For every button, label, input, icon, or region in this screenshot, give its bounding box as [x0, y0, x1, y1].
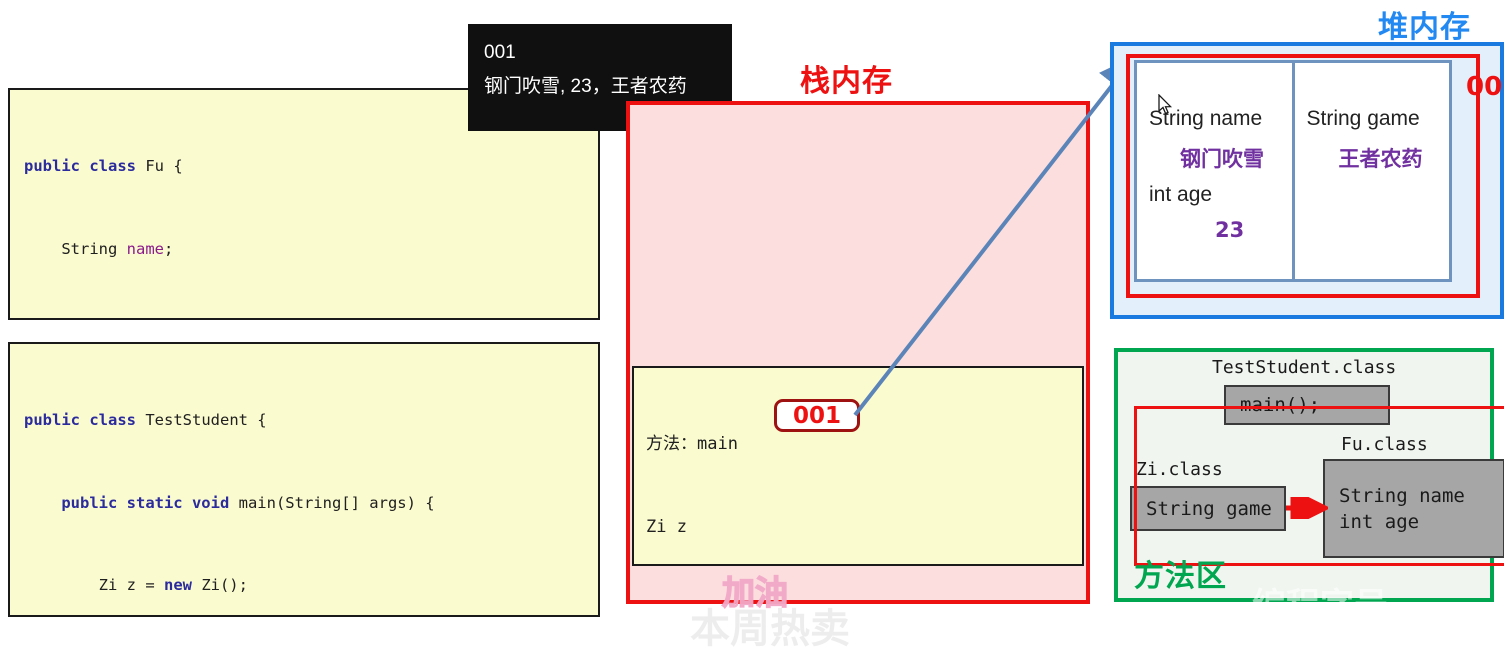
method-area-title: 方法区 — [1134, 551, 1227, 595]
heap-field-game-value: 王者农药 — [1339, 143, 1423, 173]
code-line: int age; — [10, 318, 598, 320]
heap-object-fields: String name 钢门吹雪 int age 23 String game … — [1134, 60, 1452, 282]
watermark-bottom-right: 编程字号 — [1252, 578, 1388, 627]
code-line: String name; — [10, 236, 598, 264]
code-line: Zi z = new Zi(); — [10, 572, 598, 600]
frame-method-label: 方法：main — [634, 431, 1082, 459]
heap-field-age-value: 23 — [1215, 218, 1244, 242]
code-line: public class Fu { — [10, 153, 598, 181]
code-line: public static void main(String[] args) { — [10, 490, 598, 518]
reference-arrow — [620, 50, 1140, 430]
diagram-canvas: public class Fu { String name; int age; … — [0, 0, 1504, 617]
heap-field-age-label: int age — [1149, 183, 1212, 207]
watermark-bottom-center: 本周热卖 — [690, 596, 850, 654]
heap-field-name-value: 钢门吹雪 — [1180, 143, 1264, 173]
heap-field-game-label: String game — [1307, 107, 1420, 131]
method-area-testclass-label: TestStudent.class — [1212, 357, 1396, 378]
code-line: public class TestStudent { — [10, 407, 598, 435]
heap-title: 堆内存 — [1378, 2, 1471, 46]
code-panel-teststudent: public class TestStudent { public static… — [8, 342, 600, 617]
heap-address-label: 001 — [1466, 72, 1504, 102]
mouse-cursor-icon — [1158, 94, 1174, 118]
method-area-highlight-outline — [1134, 406, 1504, 566]
frame-var-decl: Zi z — [634, 514, 1082, 542]
heap-cell-zi-fields: String game 王者农药 — [1295, 63, 1450, 279]
